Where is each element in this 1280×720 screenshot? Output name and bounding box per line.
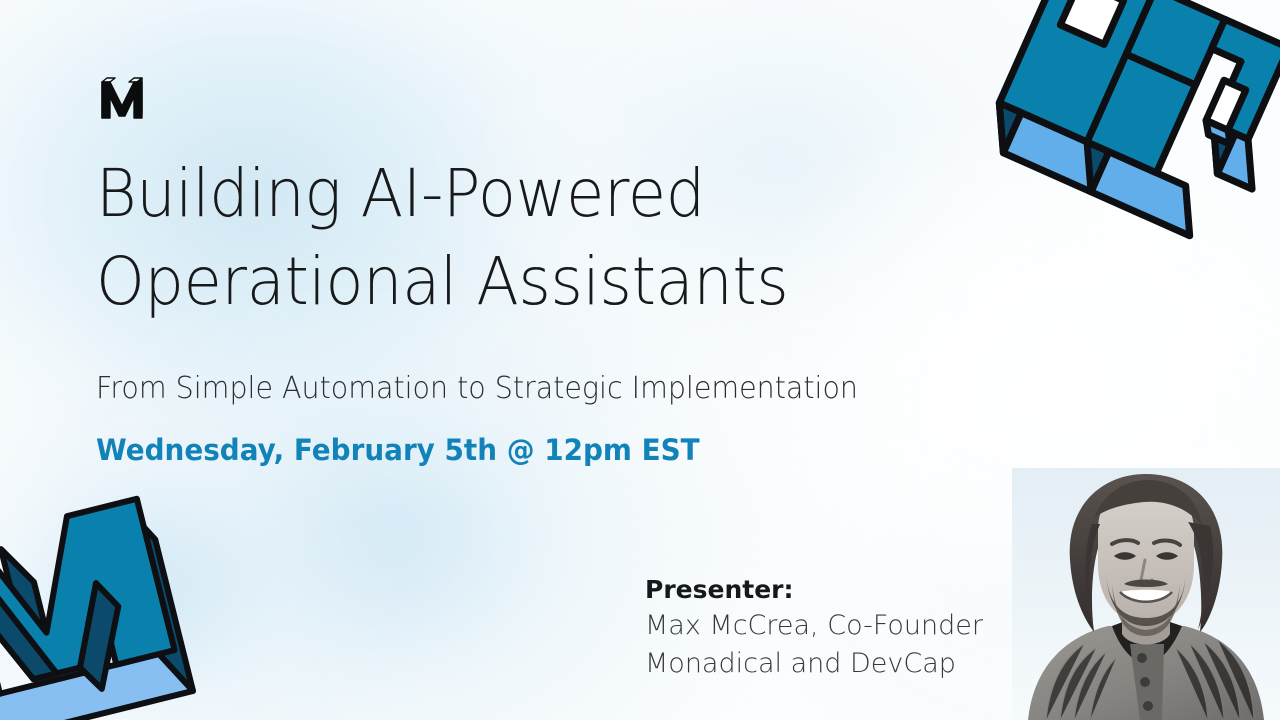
- presenter-name-role: Max McCrea, Co-Founder: [645, 607, 1005, 645]
- isometric-m-logo-icon: [956, 0, 1280, 318]
- isometric-m-logo-icon: [0, 480, 204, 720]
- page-title: Building AI-Powered Operational Assistan…: [96, 150, 942, 326]
- presenter-photo: [1012, 468, 1280, 720]
- presenter-company: Monadical and DevCap: [645, 645, 1005, 683]
- slide-canvas: Building AI-Powered Operational Assistan…: [0, 0, 1280, 720]
- event-datetime: Wednesday, February 5th @ 12pm EST: [96, 433, 960, 468]
- presenter-label: Presenter:: [645, 573, 1005, 607]
- monadical-m-logo-icon: [96, 72, 148, 124]
- presenter-block: Presenter: Max McCrea, Co-Founder Monadi…: [645, 573, 1005, 683]
- headline-block: Building AI-Powered Operational Assistan…: [96, 150, 996, 468]
- page-subtitle: From Simple Automation to Strategic Impl…: [96, 370, 951, 408]
